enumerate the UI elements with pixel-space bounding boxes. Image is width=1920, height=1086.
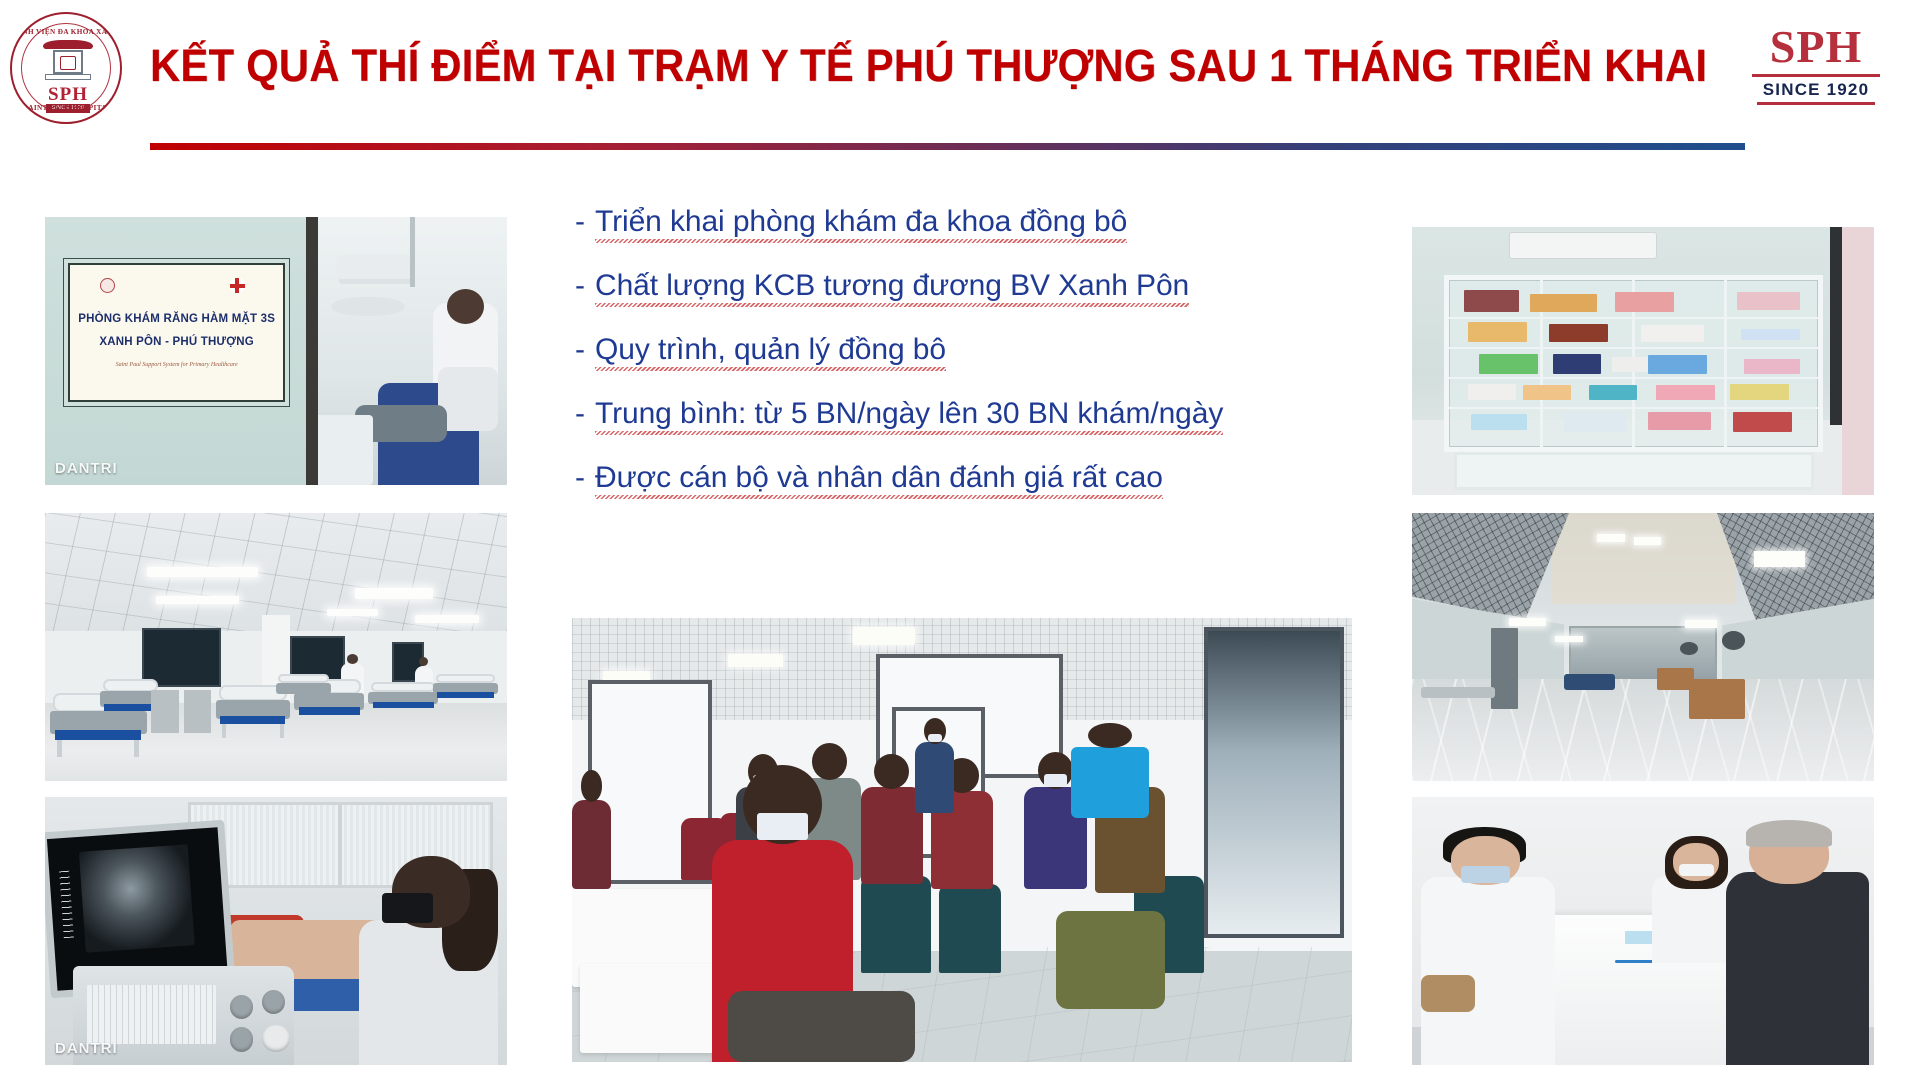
ceiling-light (1509, 618, 1546, 626)
medicine-box (1553, 354, 1601, 374)
staff-head (1088, 723, 1132, 749)
bed-stripe (104, 704, 157, 711)
face-mask-icon (1461, 866, 1509, 883)
face-mask-icon (1679, 864, 1714, 876)
seal-arc-bottom-text: SAINT PAUL HOSPITAL (12, 104, 122, 112)
medicine-box (1733, 412, 1792, 432)
medicine-box (1615, 292, 1674, 312)
ceiling-light (1555, 636, 1583, 641)
bed-rail (103, 679, 158, 692)
bullet-text: Trung bình: từ 5 BN/ngày lên 30 BN khám/… (595, 397, 1223, 435)
seal-arc-top-text: BỆNH VIỆN ĐA KHOA XANH PÔN (12, 28, 122, 36)
bed-leg (280, 724, 284, 738)
hospital-bed (276, 674, 331, 706)
national-emblem-icon (100, 278, 115, 293)
waiting-bench (1564, 674, 1615, 690)
cabinet-mullion (1724, 280, 1727, 447)
medicine-box (1589, 385, 1637, 400)
medicine-box (1523, 385, 1571, 400)
medicine-box (1648, 412, 1711, 430)
patient-head (812, 743, 847, 780)
sph-wordmark: SPH (1750, 22, 1882, 72)
pink-side-wall (1842, 227, 1874, 495)
reception-desk (1657, 668, 1694, 689)
bed-rail (371, 682, 435, 692)
ceiling-light (853, 627, 915, 645)
seal-gate-roof (43, 40, 93, 49)
sign-subtitle: Saint Paul Support System for Primary He… (70, 362, 283, 368)
sph-rule-bottom (1757, 102, 1875, 105)
scan-depth-scale (59, 872, 74, 939)
ceiling-light (1634, 537, 1662, 545)
jacket-on-chair (728, 991, 915, 1062)
bed-stripe (373, 702, 434, 708)
hospital-bed (433, 674, 498, 706)
lobby-skylight-ceiling (1551, 513, 1736, 604)
slide-canvas: BỆNH VIỆN ĐA KHOA XANH PÔN SPH SINCE 192… (0, 0, 1920, 1086)
hospital-bed (368, 682, 437, 717)
waiting-chair (939, 884, 1001, 973)
dentist-head (447, 289, 484, 324)
seal-gate-icon (43, 40, 93, 86)
sph-rule-top (1752, 74, 1880, 77)
sph-brand-mark: SPH SINCE 1920 (1750, 22, 1882, 108)
bullet-dash: - (575, 333, 585, 367)
ceiling-light (156, 596, 239, 604)
patient-hair (1746, 820, 1832, 847)
ceiling-light (1754, 551, 1805, 567)
face-mask-icon (757, 813, 808, 840)
bed-stripe (437, 692, 494, 697)
door-frame (306, 217, 318, 485)
clinic-sign-board: PHÒNG KHÁM RĂNG HÀM MẶT 3S XANH PÔN - PH… (68, 263, 285, 402)
medicine-box (1612, 357, 1649, 372)
slide-header: BỆNH VIỆN ĐA KHOA XANH PÔN SPH SINCE 192… (0, 0, 1920, 160)
bed-rail (436, 674, 495, 684)
bullet-item: - Chất lượng KCB tương đương BV Xanh Pôn (575, 269, 1335, 307)
console-trackball (262, 1025, 290, 1052)
dental-lamp-head-icon (331, 297, 405, 316)
red-cross-icon (230, 278, 245, 293)
medicine-box (1744, 359, 1799, 374)
bullet-text: Chất lượng KCB tương đương BV Xanh Pôn (595, 269, 1189, 307)
ceiling-light (147, 567, 258, 578)
bullet-list: - Triển khai phòng khám đa khoa đồng bô … (575, 205, 1335, 525)
seal-center-text: SPH (12, 84, 122, 106)
bullet-dash: - (575, 461, 585, 495)
bullet-dash: - (575, 397, 585, 431)
medicine-box (1468, 384, 1516, 401)
patient-head (874, 754, 909, 789)
dental-lamp-icon (336, 255, 415, 279)
bullet-item: - Trung bình: từ 5 BN/ngày lên 30 BN khá… (575, 397, 1335, 435)
bed-rail (278, 674, 329, 684)
bullet-dash: - (575, 269, 585, 303)
bed-leg (57, 740, 62, 757)
photo-dental-clinic-sign: PHÒNG KHÁM RĂNG HÀM MẶT 3S XANH PÔN - PH… (45, 217, 507, 485)
instrument-cart (308, 415, 373, 485)
medicine-box (1564, 412, 1627, 432)
medicine-box (1741, 329, 1800, 341)
staff-figure-blue (1071, 747, 1149, 818)
bullet-item: - Triển khai phòng khám đa khoa đồng bô (575, 205, 1335, 243)
ceiling-light (355, 588, 434, 599)
doctor-arm (1421, 975, 1475, 1013)
photo-doctor-consultation (1412, 797, 1874, 1065)
page-title: KẾT QUẢ THÍ ĐIỂM TẠI TRẠM Y TẾ PHÚ THƯỢN… (150, 30, 1601, 102)
staff-figure (915, 742, 954, 813)
bed-leg (134, 740, 139, 757)
doctor-face-mask (382, 893, 433, 922)
title-divider-rule (150, 143, 1745, 150)
bedside-cabinet (184, 690, 212, 733)
bullet-text: Quy trình, quản lý đồng bô (595, 333, 946, 371)
sph-since-text: SINCE 1920 (1750, 80, 1882, 99)
photo-watermark: DANTRI (55, 460, 118, 477)
medicine-box (1648, 355, 1707, 373)
medicine-box (1549, 324, 1608, 342)
ceiling-light (1597, 534, 1625, 542)
glass-partition-door (1204, 627, 1344, 938)
face-mask-icon (928, 734, 942, 743)
medicine-box (1468, 322, 1527, 342)
bullet-item: - Quy trình, quản lý đồng bô (575, 333, 1335, 371)
ceiling-light (1685, 620, 1717, 628)
bedside-cabinet (151, 690, 179, 733)
doctor-figure (1421, 877, 1555, 1065)
medicine-box (1479, 354, 1538, 374)
photo-ultrasound-examination: DANTRI (45, 797, 507, 1065)
nurse-head (347, 654, 358, 664)
photo-pharmacy-cabinet (1412, 227, 1874, 495)
medicine-box (1530, 294, 1596, 312)
ceiling-light (415, 615, 480, 623)
waiting-chair (861, 876, 931, 974)
reception-desk (1689, 679, 1744, 719)
bed-leg (222, 724, 226, 738)
photo-waiting-room-patients (572, 618, 1352, 1062)
photo-hospital-lobby-corridor (1412, 513, 1874, 781)
folded-coat (1056, 911, 1165, 1009)
metal-table (1421, 687, 1495, 698)
air-conditioner-icon (1509, 232, 1657, 259)
cabinet-base-cupboard (1454, 452, 1814, 490)
bed-stripe (55, 730, 140, 740)
seal-gate-base (45, 74, 91, 80)
notice-board (1491, 628, 1519, 708)
bed-stripe (220, 716, 285, 725)
ceiling-light (327, 609, 378, 616)
console-knob (230, 1027, 253, 1051)
ultrasound-scan-image (79, 845, 195, 953)
photo-watermark: DANTRI (55, 1040, 118, 1057)
bullet-dash: - (575, 205, 585, 239)
window-mullion (338, 805, 342, 885)
wall-fan-icon (1722, 631, 1745, 650)
patient-figure (572, 800, 611, 889)
patient-head (581, 770, 603, 802)
photo-hospital-ward-beds (45, 513, 507, 781)
bullet-text: Triển khai phòng khám đa khoa đồng bô (595, 205, 1127, 243)
ceiling-pole (410, 217, 415, 287)
patient-figure (1726, 872, 1869, 1065)
bed-stripe (299, 707, 360, 715)
medicine-box (1471, 414, 1526, 431)
bullet-item: - Được cán bộ và nhân dân đánh giá rất c… (575, 461, 1335, 499)
dark-door-edge (1830, 227, 1842, 425)
medicine-box (1730, 384, 1789, 401)
console-keyboard (87, 985, 216, 1044)
ceiling-light (728, 654, 783, 667)
sign-line-1: PHÒNG KHÁM RĂNG HÀM MẶT 3S (70, 313, 283, 325)
sign-line-2: XANH PÔN - PHÚ THƯỢNG (70, 336, 283, 348)
medicine-box (1464, 290, 1519, 312)
medicine-box (1656, 385, 1715, 400)
saint-paul-hospital-seal-icon: BỆNH VIỆN ĐA KHOA XANH PÔN SPH SINCE 192… (10, 12, 122, 124)
patient-figure (861, 787, 923, 885)
face-mask-icon (1044, 774, 1066, 786)
seal-gate-medal (60, 56, 76, 70)
medicine-cabinet (1444, 275, 1823, 452)
medicine-box (1737, 292, 1800, 310)
bullet-text: Được cán bộ và nhân dân đánh giá rất cao (595, 461, 1163, 499)
medicine-box (1641, 325, 1704, 342)
bed-mattress (276, 683, 331, 695)
